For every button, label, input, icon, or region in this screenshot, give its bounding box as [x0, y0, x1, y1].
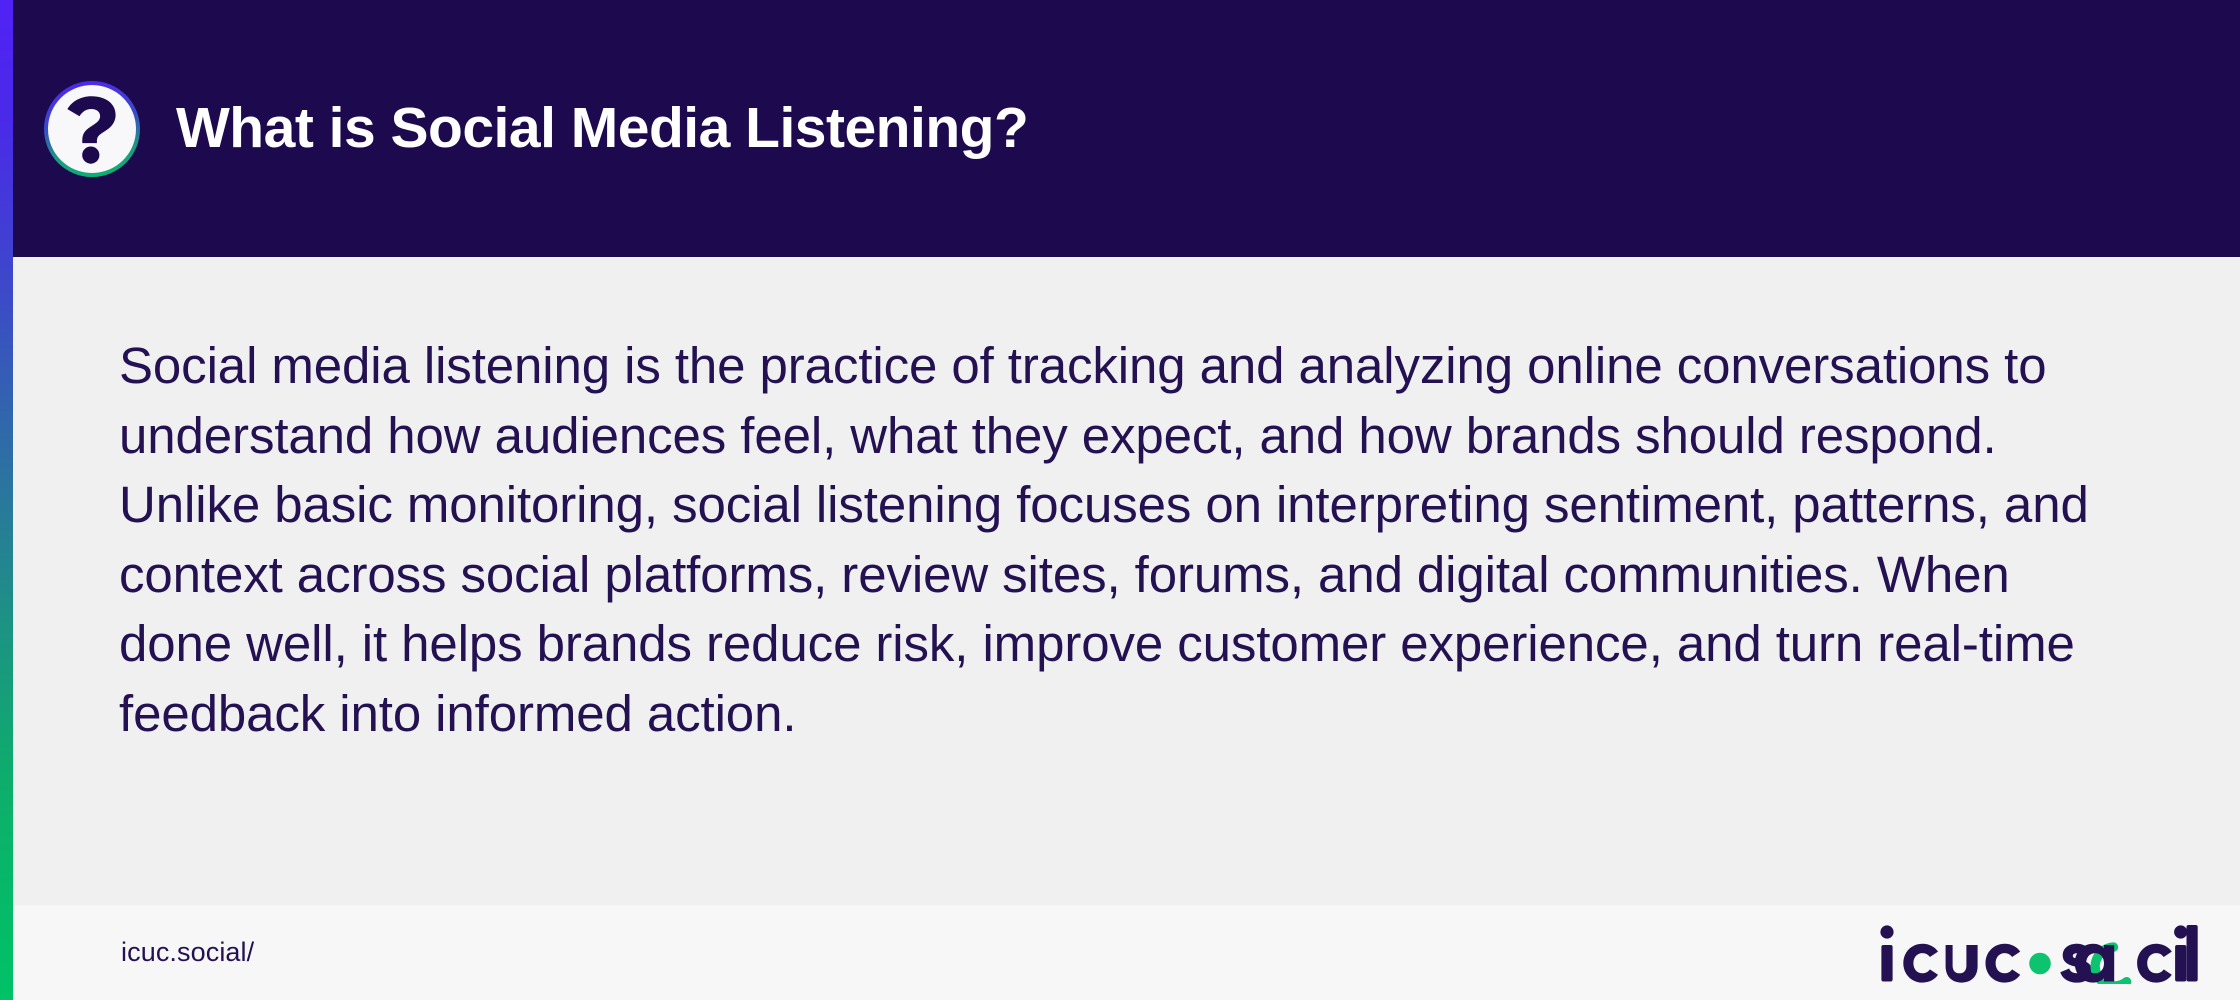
- content-area: Social media listening is the practice o…: [13, 257, 2240, 905]
- logo-dot: [2029, 952, 2051, 974]
- page-title: What is Social Media Listening?: [176, 97, 1028, 160]
- left-accent-bar: [0, 0, 13, 1000]
- icuc-social-logo[interactable]: [1880, 922, 2198, 984]
- footer-url[interactable]: icuc.social/: [121, 937, 254, 968]
- body-paragraph: Social media listening is the practice o…: [119, 331, 2129, 748]
- question-mark-icon: [44, 81, 140, 177]
- footer-band: icuc.social/: [13, 905, 2240, 1000]
- question-mark-icon-inner: [48, 85, 136, 173]
- header-band: What is Social Media Listening?: [13, 0, 2240, 257]
- slide-card: What is Social Media Listening? Social m…: [0, 0, 2240, 1000]
